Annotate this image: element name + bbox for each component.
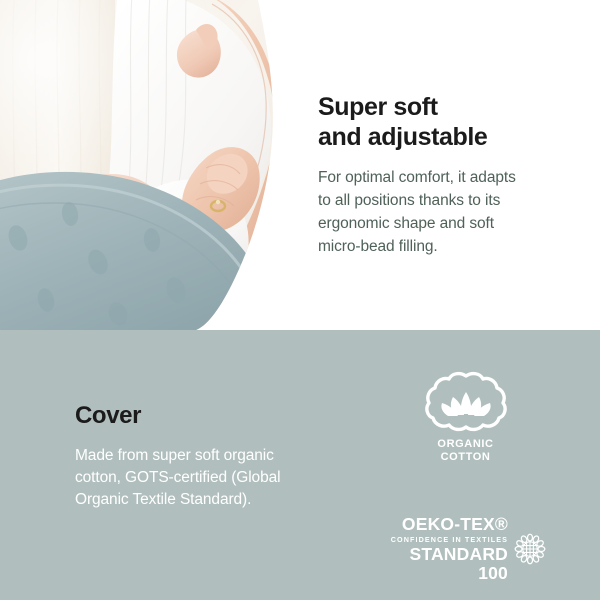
organic-cotton-label: ORGANIC COTTON xyxy=(406,438,526,464)
top-body-line-1: For optimal comfort, it adapts xyxy=(318,166,580,189)
top-body-line-2: to all positions thanks to its xyxy=(318,189,580,212)
bottom-section: Cover Made from super soft organic cotto… xyxy=(0,330,600,600)
top-body-text: For optimal comfort, it adapts to all po… xyxy=(318,166,580,258)
bottom-copy-block: Cover Made from super soft organic cotto… xyxy=(75,402,340,511)
organic-cotton-label-line-1: ORGANIC xyxy=(406,438,526,451)
top-heading: Super soft and adjustable xyxy=(318,92,580,152)
bottom-heading: Cover xyxy=(75,402,340,430)
organic-cotton-badge: ORGANIC COTTON xyxy=(406,370,526,464)
oeko-tex-text: OEKO-TEX® CONFIDENCE IN TEXTILES STANDAR… xyxy=(380,515,508,583)
oeko-tex-line-1: OEKO-TEX® xyxy=(380,515,508,534)
bottom-body-line-3: Organic Textile Standard). xyxy=(75,489,340,511)
bottom-body-line-1: Made from super soft organic xyxy=(75,445,340,467)
product-photo-illustration xyxy=(0,0,290,330)
cotton-boll-icon xyxy=(423,370,509,436)
organic-cotton-label-line-2: COTTON xyxy=(406,451,526,464)
top-heading-line-2: and adjustable xyxy=(318,122,580,152)
oeko-tex-badge: OEKO-TEX® CONFIDENCE IN TEXTILES STANDAR… xyxy=(380,515,552,583)
top-section: Super soft and adjustable For optimal co… xyxy=(0,0,600,330)
top-copy-block: Super soft and adjustable For optimal co… xyxy=(318,92,580,258)
product-photo xyxy=(0,0,290,330)
oeko-tex-rosette-wrapper xyxy=(512,531,548,567)
top-body-line-3: ergonomic shape and soft xyxy=(318,212,580,235)
certification-badges: ORGANIC COTTON OEKO-TEX® CONFIDENCE IN T… xyxy=(378,370,553,464)
top-body-line-4: micro-bead filling. xyxy=(318,235,580,258)
oeko-tex-rosette-icon xyxy=(512,531,548,567)
top-heading-line-1: Super soft xyxy=(318,93,438,121)
bottom-body-text: Made from super soft organic cotton, GOT… xyxy=(75,445,340,511)
oeko-tex-line-3: STANDARD 100 xyxy=(380,545,508,583)
bottom-body-line-2: cotton, GOTS-certified (Global xyxy=(75,467,340,489)
product-info-page: Super soft and adjustable For optimal co… xyxy=(0,0,600,600)
